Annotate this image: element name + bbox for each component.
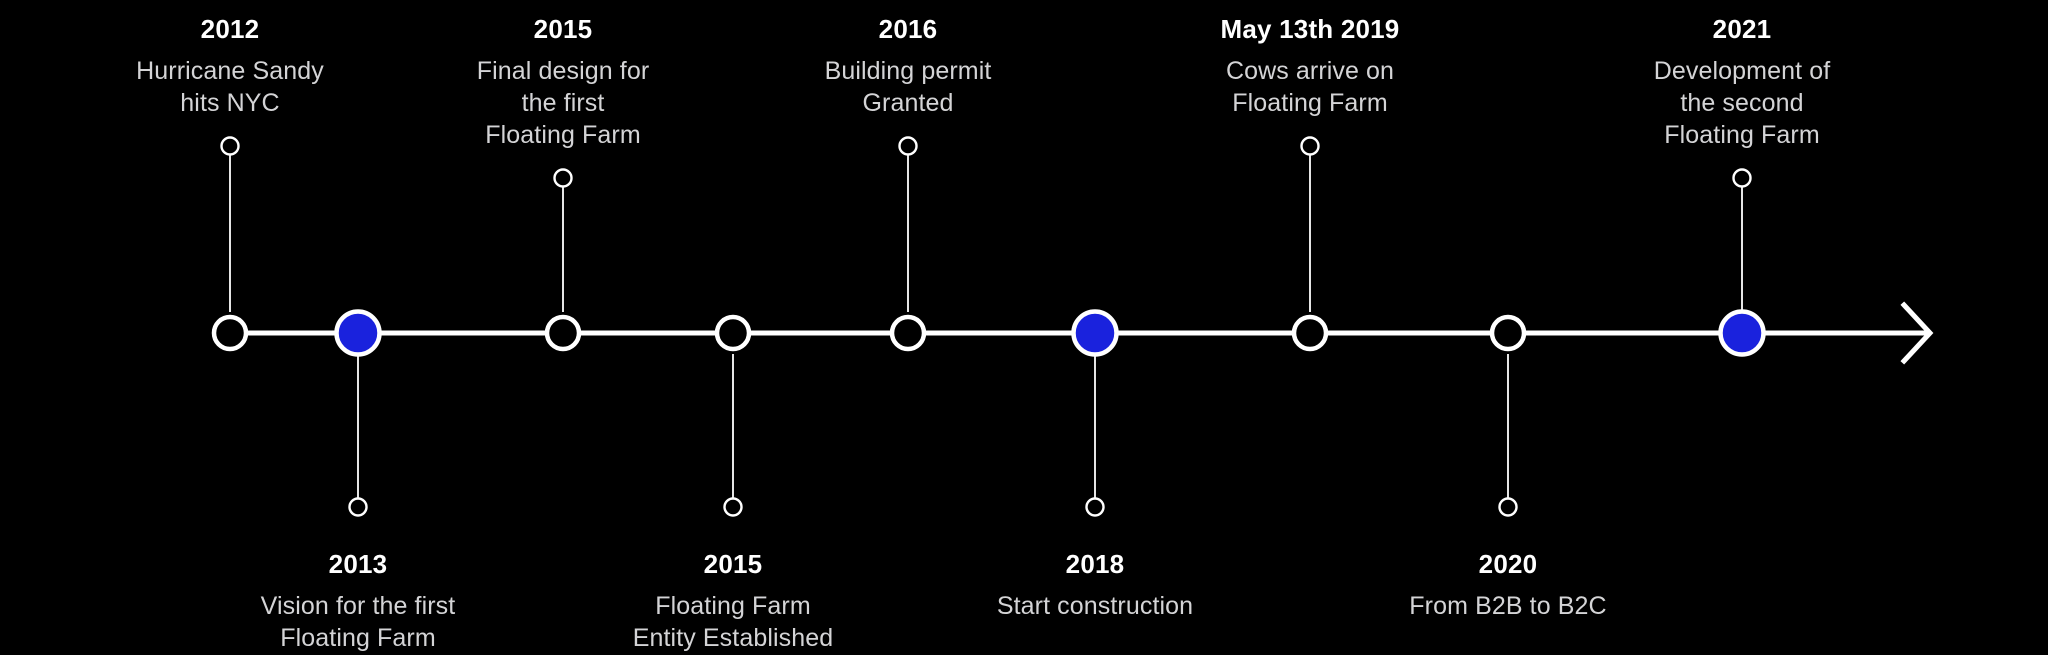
axis-node-outline[interactable]	[1492, 317, 1524, 349]
timeline-diagram: 2012Hurricane Sandy hits NYC2013Vision f…	[0, 0, 2048, 655]
axis-node-filled[interactable]	[1074, 312, 1117, 355]
axis-node-outline[interactable]	[1294, 317, 1326, 349]
event-endpoint-dot[interactable]	[1302, 138, 1319, 155]
axis-node-outline[interactable]	[717, 317, 749, 349]
event-endpoint-dot[interactable]	[1087, 499, 1104, 516]
event-endpoint-dot[interactable]	[1734, 170, 1751, 187]
event-endpoint-dot[interactable]	[350, 499, 367, 516]
event-endpoint-dot[interactable]	[222, 138, 239, 155]
axis-node-filled[interactable]	[337, 312, 380, 355]
axis-node-filled[interactable]	[1721, 312, 1764, 355]
event-endpoint-dot[interactable]	[555, 170, 572, 187]
axis-node-outline[interactable]	[892, 317, 924, 349]
event-endpoint-dot[interactable]	[900, 138, 917, 155]
event-endpoint-dot[interactable]	[1500, 499, 1517, 516]
axis-node-outline[interactable]	[214, 317, 246, 349]
event-endpoint-dot[interactable]	[725, 499, 742, 516]
timeline-graphics	[0, 0, 2048, 655]
axis-node-outline[interactable]	[547, 317, 579, 349]
